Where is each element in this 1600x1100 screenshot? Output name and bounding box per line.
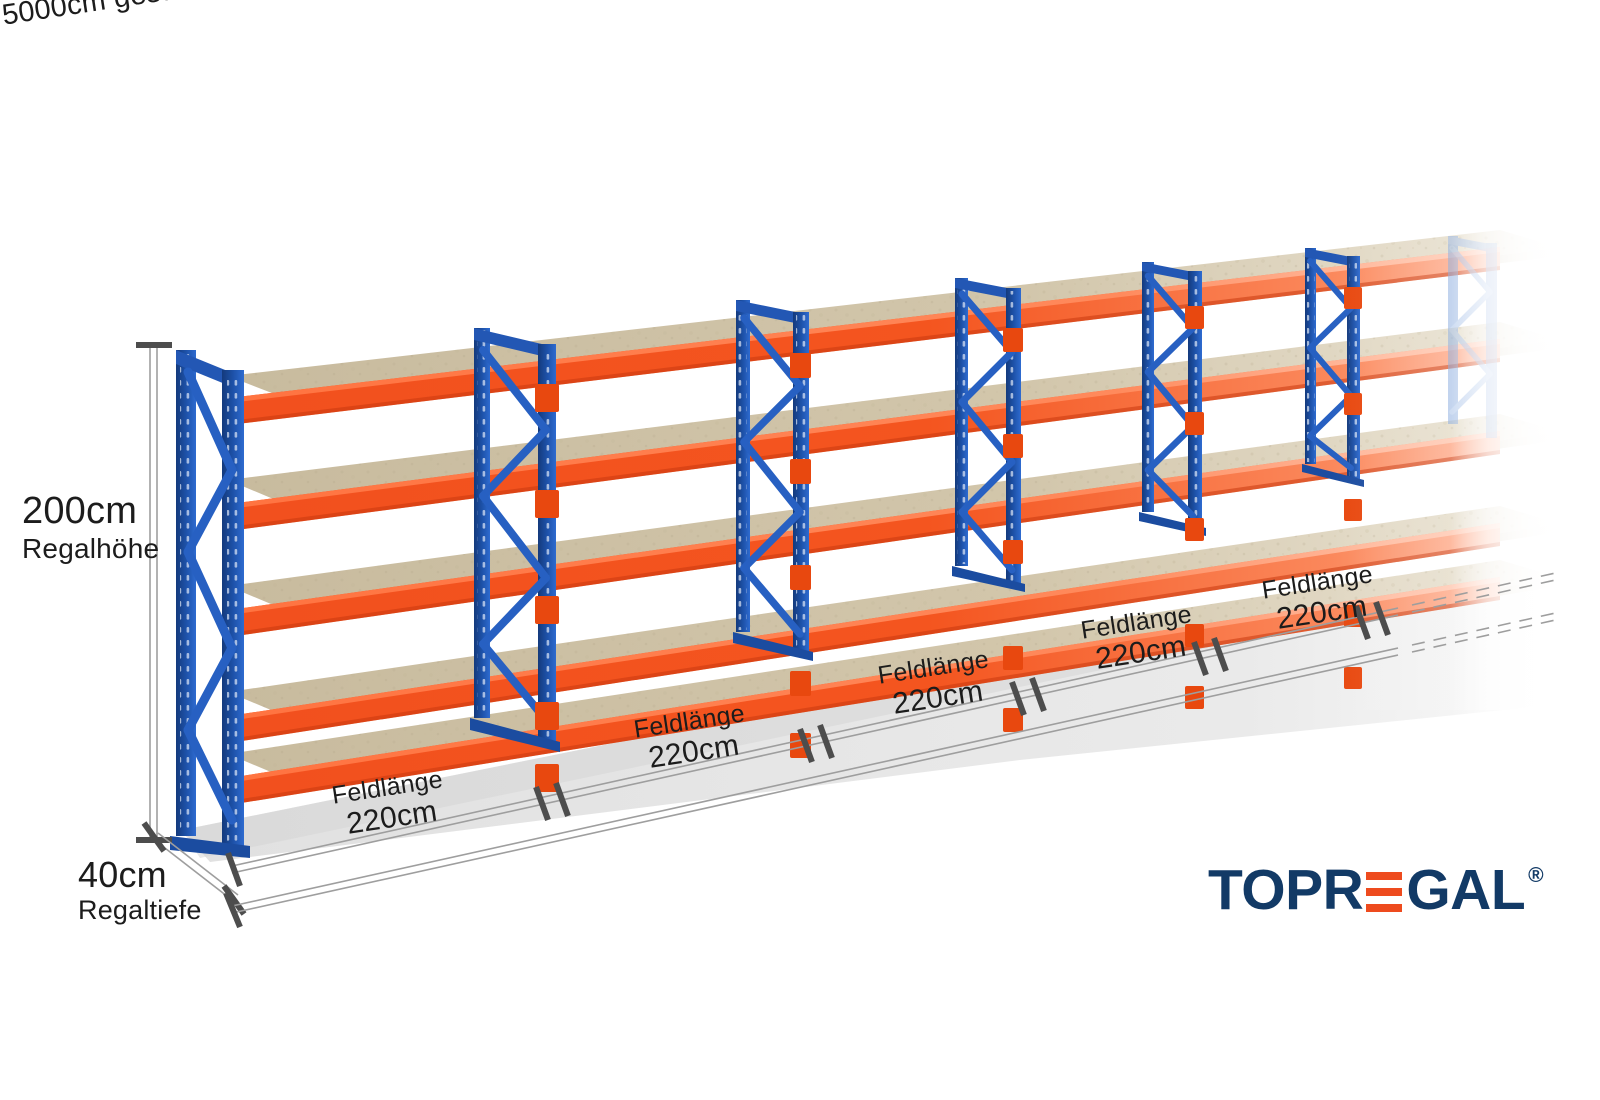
- rack-scene: [0, 0, 1600, 1100]
- rack-frame-5: [1139, 262, 1206, 536]
- dimension-label-depth: 40cm Regaltiefe: [78, 855, 202, 926]
- product-illustration: 200cm Regalhöhe 40cm Regaltiefe Feldläng…: [0, 0, 1600, 1100]
- topregal-logo: TOPR GAL ®: [1208, 862, 1544, 919]
- dimension-height: [136, 345, 172, 840]
- right-edge-fade-hard: [1450, 150, 1600, 770]
- logo-e-bars-icon: [1366, 872, 1402, 912]
- registered-trademark-icon: ®: [1528, 864, 1543, 888]
- dimension-label-height: 200cm Regalhöhe: [22, 490, 159, 564]
- logo-text-part1: TOPR: [1208, 862, 1363, 919]
- depth-name: Regaltiefe: [78, 895, 202, 925]
- rack-frame-1: [170, 350, 250, 858]
- logo-wordmark: TOPR GAL: [1208, 862, 1525, 919]
- height-name: Regalhöhe: [22, 533, 159, 564]
- height-value: 200cm: [22, 490, 159, 533]
- depth-value: 40cm: [78, 855, 202, 895]
- logo-text-part2: GAL: [1406, 862, 1525, 919]
